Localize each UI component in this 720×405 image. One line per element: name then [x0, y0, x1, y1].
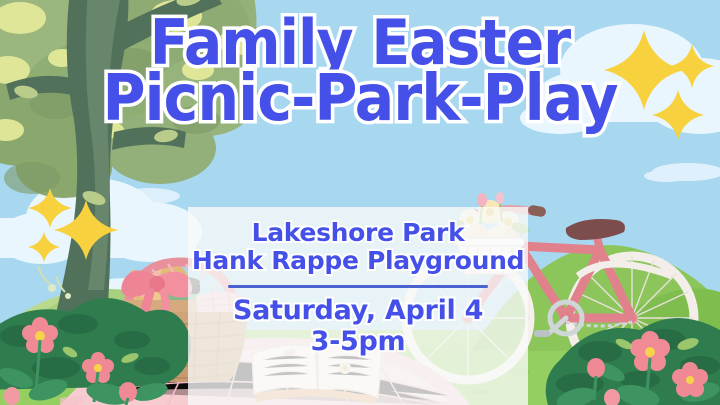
venue-line-2: Hank Rappe Playground [188, 247, 528, 275]
event-info-card: Lakeshore Park Hank Rappe Playground Sat… [188, 207, 528, 405]
easter-event-poster: Family Easter Picnic-Park-Play Lakeshore… [0, 0, 720, 405]
flower-bud [4, 387, 20, 405]
event-time: 3-5pm [188, 327, 528, 357]
card-divider [228, 285, 488, 288]
venue-line-1: Lakeshore Park [188, 219, 528, 247]
bush-right [546, 318, 720, 405]
bush-left [0, 298, 191, 405]
event-date: Saturday, April 4 [188, 296, 528, 326]
